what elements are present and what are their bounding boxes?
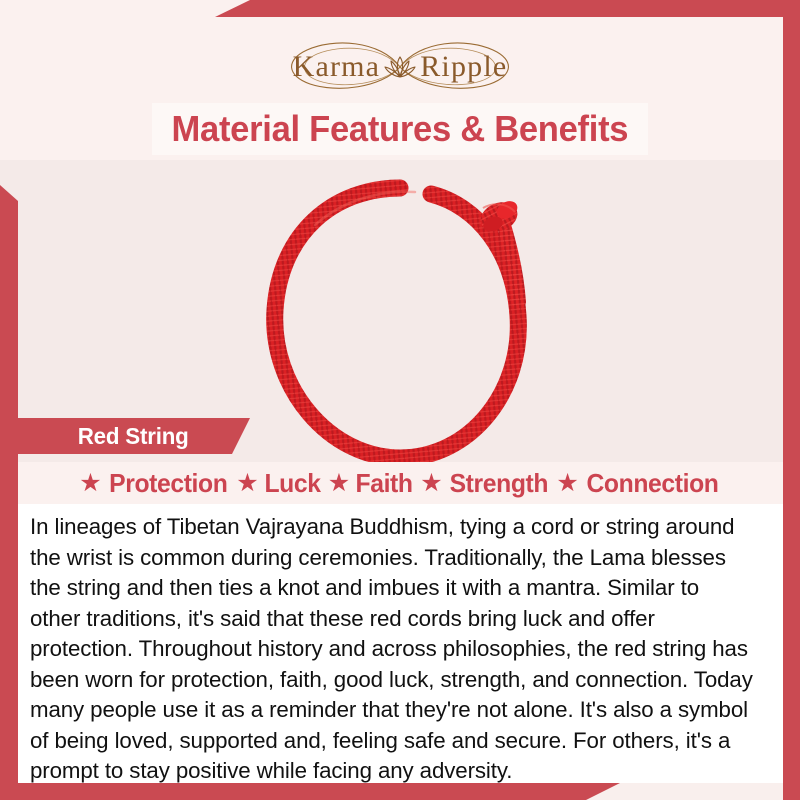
page-title-band: Material Features & Benefits [152,103,648,155]
benefit-item-connection: ★ Connection [556,468,721,499]
infographic-page: Karma Ripple Material Features & Benefit… [0,0,800,800]
star-icon: ★ [79,471,101,496]
description-panel: In lineages of Tibetan Vajrayana Buddhis… [18,504,783,783]
benefits-row: ★ Protection ★ Luck ★ Faith ★ Strength ★… [18,462,783,504]
benefit-label: Faith [356,468,413,499]
page-title: Material Features & Benefits [172,108,629,150]
benefit-label: Protection [109,468,227,499]
brand-name-ripple: Ripple [420,52,507,82]
star-icon: ★ [236,471,258,496]
frame-left-band [0,185,18,800]
material-tag: Red String [18,418,250,454]
benefit-label: Strength [449,468,548,499]
frame-bottom-band [0,783,620,800]
benefit-item-protection: ★ Protection [79,468,230,499]
brand-logo: Karma Ripple [0,36,800,98]
benefit-item-faith: ★ Faith [328,468,415,499]
star-icon: ★ [328,471,350,496]
frame-top-band [215,0,800,17]
red-string-bracelet-image [235,170,565,480]
frame-right-band [783,0,800,800]
benefit-item-luck: ★ Luck [236,468,322,499]
benefit-label: Connection [586,468,718,499]
description-text: In lineages of Tibetan Vajrayana Buddhis… [30,512,754,787]
benefit-item-strength: ★ Strength [420,468,550,499]
material-tag-label: Red String [78,423,189,450]
benefit-label: Luck [264,468,320,499]
star-icon: ★ [420,471,442,496]
brand-name-karma: Karma [293,52,381,82]
star-icon: ★ [556,471,578,496]
lotus-icon [383,52,417,82]
brand-logo-inner: Karma Ripple [293,36,508,98]
